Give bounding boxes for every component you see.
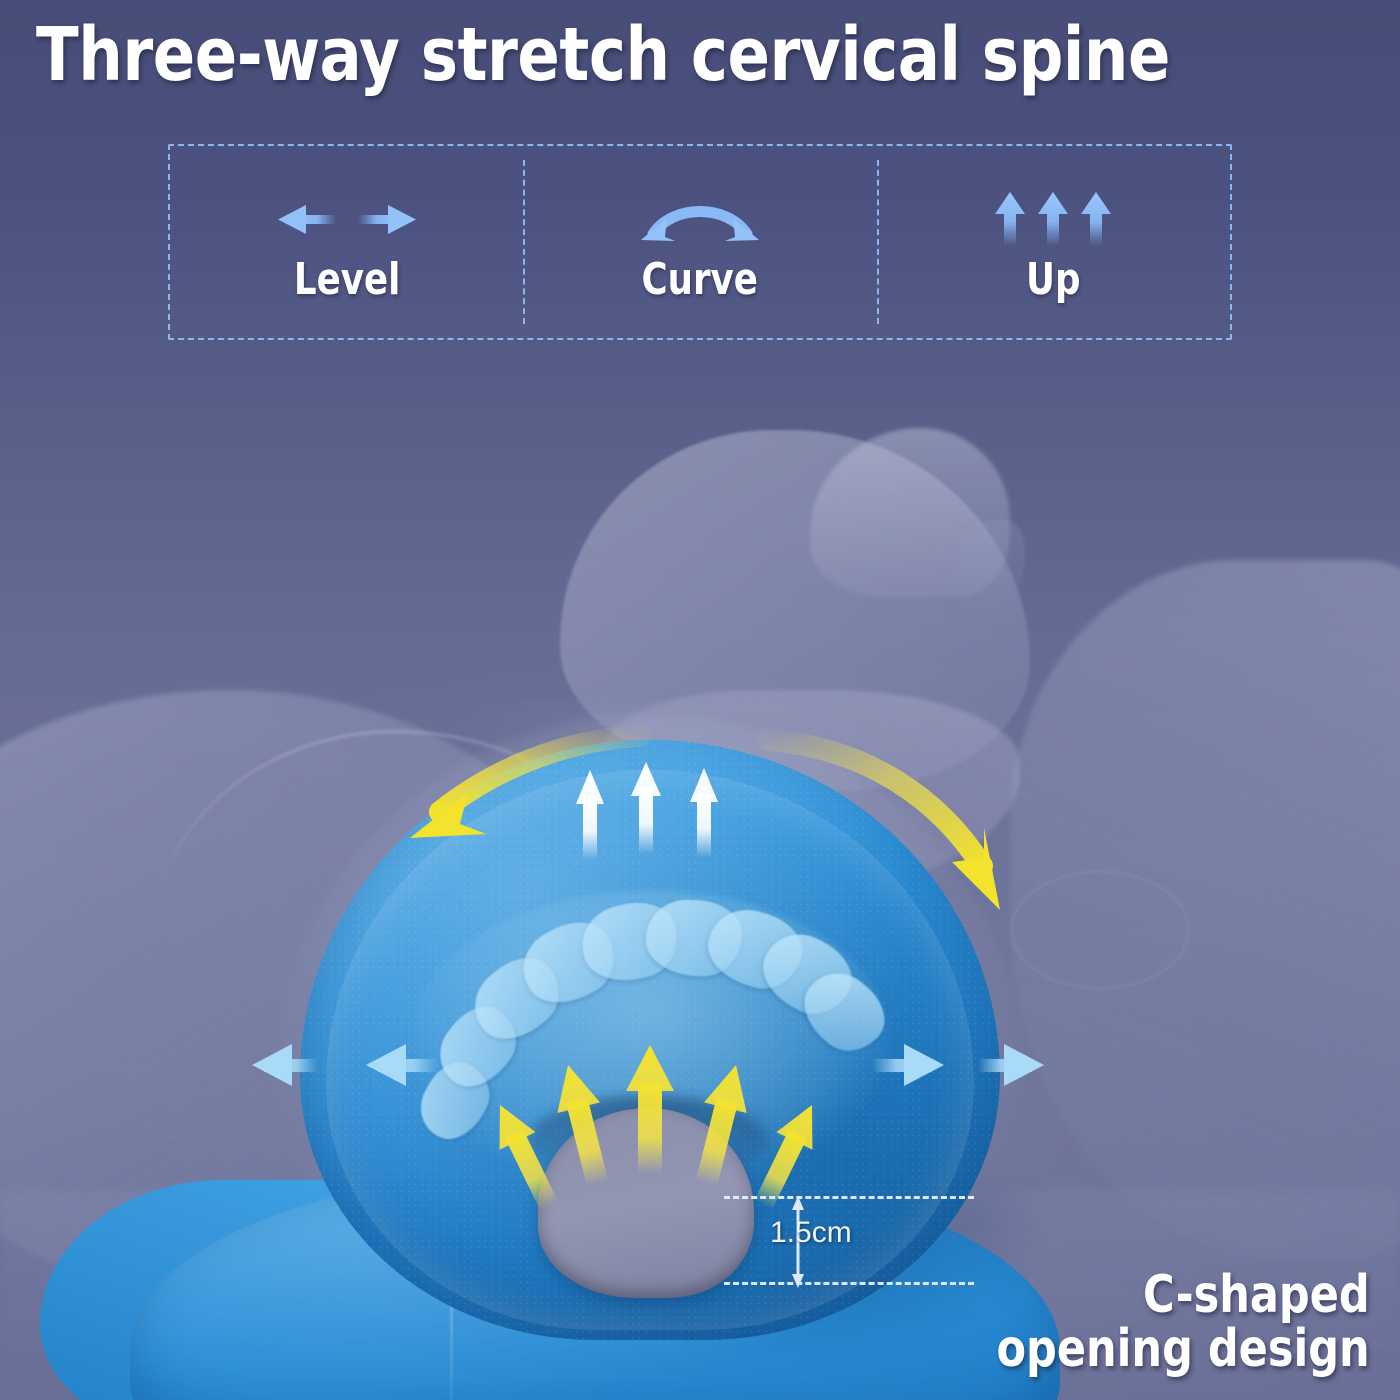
dimension-line-top: [724, 1196, 974, 1199]
dimension-annotation: 1.5cm: [724, 1196, 974, 1312]
caption-line-2: opening design: [997, 1322, 1370, 1376]
feature-label-level: Level: [293, 258, 399, 302]
feature-item-up[interactable]: Up: [877, 146, 1230, 338]
dimension-label: 1.5cm: [770, 1218, 852, 1248]
c-shaped-opening: [538, 1108, 754, 1298]
double-horizontal-arrows-icon: [272, 188, 422, 250]
feature-label-curve: Curve: [642, 258, 758, 302]
infographic-canvas: Three-way stretch cervical spine: [0, 0, 1400, 1400]
triple-up-arrows-icon: [978, 188, 1128, 250]
ear-outline: [1010, 870, 1190, 990]
page-title: Three-way stretch cervical spine: [36, 18, 1170, 92]
curved-double-arrow-icon: [625, 188, 775, 250]
nose-silhouette: [955, 520, 1025, 615]
feature-item-level[interactable]: Level: [170, 146, 523, 338]
caption-c-shaped-opening: C-shaped opening design: [997, 1268, 1370, 1376]
body-silhouette-right: [1010, 560, 1400, 1260]
feature-label-up: Up: [1026, 258, 1080, 302]
feature-item-curve[interactable]: Curve: [523, 146, 876, 338]
dimension-line-bottom: [724, 1282, 974, 1285]
feature-panel: Level Curve: [168, 144, 1232, 340]
forehead-silhouette: [810, 428, 1010, 598]
caption-line-1: C-shaped: [997, 1268, 1370, 1322]
